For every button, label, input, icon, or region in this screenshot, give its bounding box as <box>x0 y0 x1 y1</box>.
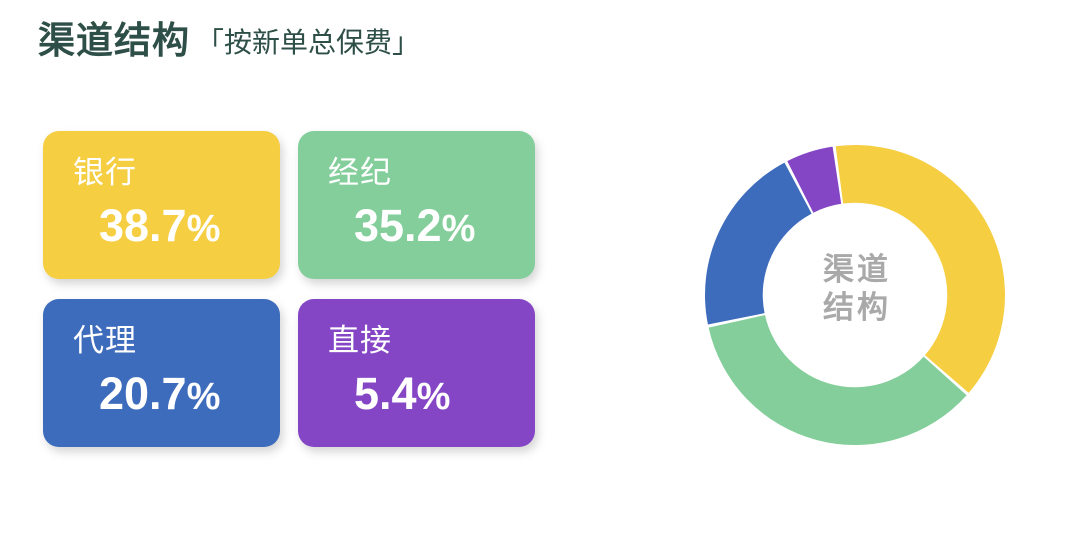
card-value-unit: % <box>442 208 476 250</box>
card-value-unit: % <box>417 376 451 418</box>
card-label: 直接 <box>328 325 392 356</box>
card-label: 银行 <box>73 157 137 188</box>
card-value-number: 20.7 <box>99 368 187 419</box>
slide-canvas: 渠道结构 「按新单总保费」 银行 38.7% 经纪 35.2% 代理 20.7%… <box>0 0 1080 534</box>
channel-card-agent[interactable]: 代理 20.7% <box>43 299 280 447</box>
page-title: 渠道结构 「按新单总保费」 <box>38 22 420 59</box>
donut-chart-svg <box>675 85 1035 505</box>
title-main: 渠道结构 <box>38 22 190 59</box>
card-value-number: 5.4 <box>354 368 417 419</box>
card-value-unit: % <box>187 208 221 250</box>
donut-chart: 渠道 结构 <box>675 85 1035 505</box>
channel-card-bank[interactable]: 银行 38.7% <box>43 131 280 279</box>
channel-card-grid: 银行 38.7% 经纪 35.2% 代理 20.7% 直接 5.4% <box>43 131 535 461</box>
channel-card-direct[interactable]: 直接 5.4% <box>298 299 535 447</box>
donut-slices <box>705 145 1005 445</box>
card-value: 20.7% <box>99 371 220 416</box>
card-label: 代理 <box>73 325 137 356</box>
card-value: 38.7% <box>99 203 220 248</box>
card-value: 5.4% <box>354 371 450 416</box>
card-value-number: 38.7 <box>99 200 187 251</box>
card-value-number: 35.2 <box>354 200 442 251</box>
title-subtitle: 「按新单总保费」 <box>196 29 420 57</box>
card-value-unit: % <box>187 376 221 418</box>
donut-slice-agent[interactable] <box>705 163 812 325</box>
donut-slice-broker[interactable] <box>709 315 967 445</box>
donut-slice-bank[interactable] <box>836 145 1005 393</box>
card-value: 35.2% <box>354 203 475 248</box>
channel-card-broker[interactable]: 经纪 35.2% <box>298 131 535 279</box>
card-label: 经纪 <box>328 157 392 188</box>
